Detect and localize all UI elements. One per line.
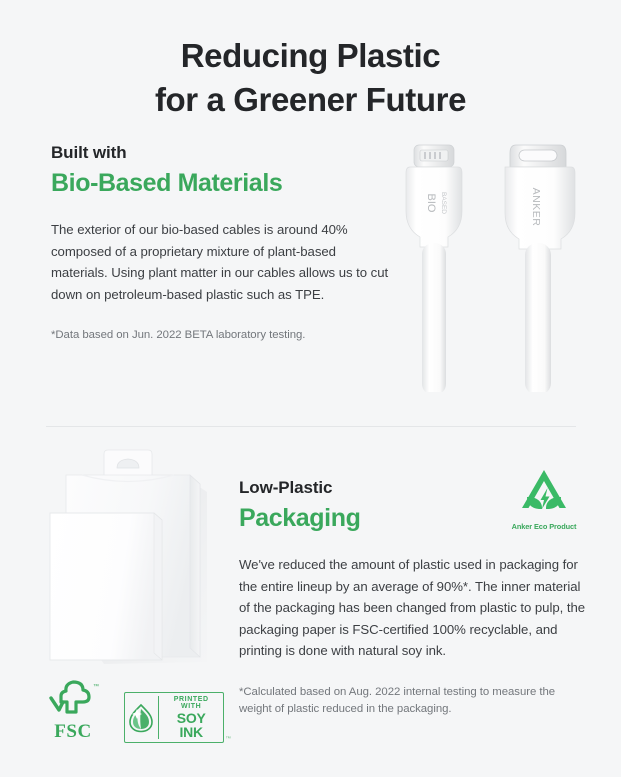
packaging-body-text: We've reduced the amount of plastic used…: [239, 554, 589, 662]
bio-body-text: The exterior of our bio-based cables is …: [51, 219, 391, 305]
svg-text:™: ™: [93, 683, 99, 690]
soy-ink-leaf-droplet-icon: [128, 703, 154, 733]
inner-box: [50, 513, 162, 660]
fsc-label: FSC: [40, 721, 106, 743]
hero-line-1: Reducing Plastic: [0, 34, 621, 78]
cable-product-image: BIO BASED ANKER: [392, 137, 607, 392]
packaging-eyebrow: Low-Plastic: [239, 478, 589, 498]
bio-footnote: *Data based on Jun. 2022 BETA laboratory…: [51, 327, 391, 344]
anker-label-text: ANKER: [530, 188, 542, 227]
soy-ink-badge: PRINTED WITH SOY INK ™: [124, 692, 224, 743]
hero-line-2: for a Greener Future: [0, 78, 621, 122]
section-bio-based-materials: Built with Bio-Based Materials The exter…: [0, 143, 621, 393]
marketing-page: Reducing Plastic for a Greener Future Bu…: [0, 0, 621, 777]
lightning-connector: BIO BASED: [406, 145, 462, 392]
packaging-headline: Packaging: [239, 504, 589, 533]
soy-badge-text: PRINTED WITH SOY INK: [163, 696, 219, 739]
hang-tab: [104, 450, 152, 476]
fsc-logo: ™ FSC: [40, 678, 106, 743]
packaging-copy-block: Low-Plastic Packaging We've reduced the …: [239, 478, 589, 718]
bio-eyebrow: Built with: [51, 143, 391, 163]
usbc-connector: ANKER: [505, 145, 575, 392]
soy-printed-with-label: PRINTED WITH: [163, 696, 219, 710]
page-title: Reducing Plastic for a Greener Future: [0, 0, 621, 121]
soy-ink-label: SOY INK: [163, 711, 219, 739]
bio-label-text: BIO: [425, 194, 437, 213]
based-label-text: BASED: [440, 192, 447, 214]
bio-copy-block: Built with Bio-Based Materials The exter…: [51, 143, 391, 344]
bio-headline: Bio-Based Materials: [51, 169, 391, 198]
packaging-footnote: *Calculated based on Aug. 2022 internal …: [239, 684, 589, 718]
packaging-product-image: [42, 442, 237, 692]
soy-badge-divider: [158, 696, 159, 739]
section-divider: [46, 426, 576, 427]
fsc-tree-check-icon: ™: [45, 678, 101, 718]
certification-logos: ™ FSC PRINTED WITH SOY INK ™: [40, 678, 224, 743]
soy-trademark-symbol: ™: [226, 736, 232, 742]
